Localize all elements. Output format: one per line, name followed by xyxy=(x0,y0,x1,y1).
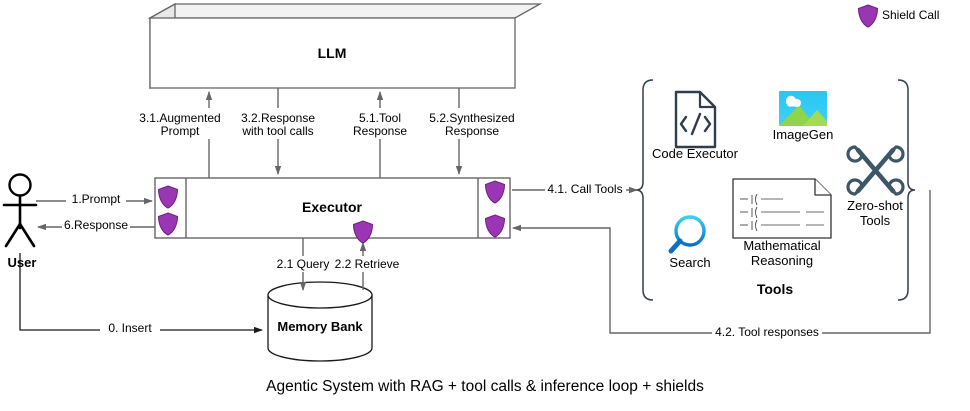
flow-label-41-call-tools: 4.1. Call Tools xyxy=(545,183,624,196)
flow-label-51-tool-response: 5.1.Tool Response xyxy=(351,112,409,139)
tool-label-zero-shot-tools: Zero-shot Tools xyxy=(847,199,903,228)
flow-label-42-tool-responses: 4.2. Tool responses xyxy=(713,326,821,339)
tools-group-label: Tools xyxy=(757,282,793,298)
flow-label-21-query: 2.1 Query xyxy=(275,258,332,271)
llm-label: LLM xyxy=(318,46,347,62)
user-actor-icon xyxy=(4,175,36,247)
flow-label-32-response-with-tool-calls: 3.2.Response with tool calls xyxy=(239,112,317,139)
formula-document-icon xyxy=(733,179,831,238)
flow-label-52-synthesized-response: 5.2.Synthesized Response xyxy=(427,112,516,139)
tool-label-code-executor: Code Executor xyxy=(652,147,738,162)
user-label: User xyxy=(8,256,37,271)
crossed-wrenches-icon xyxy=(848,147,903,194)
diagram-svg xyxy=(0,0,970,411)
flow-label-31-augmented-prompt: 3.1.Augmented Prompt xyxy=(137,112,222,139)
code-file-icon xyxy=(676,92,715,147)
flow-label-6-response: 6.Response xyxy=(62,219,130,232)
legend-shield-label: Shield Call xyxy=(882,9,939,22)
memory-bank-label: Memory Bank xyxy=(277,320,362,335)
image-icon xyxy=(779,91,831,126)
executor-label: Executor xyxy=(302,200,362,216)
diagram-caption: Agentic System with RAG + tool calls & i… xyxy=(266,378,704,395)
magnifier-icon xyxy=(671,217,704,251)
shield-icon xyxy=(354,221,373,243)
arrow-insert xyxy=(20,253,262,330)
flow-label-0-insert: 0. Insert xyxy=(106,322,153,335)
shield-icon-legend xyxy=(859,5,878,27)
flow-label-22-retrieve: 2.2 Retrieve xyxy=(333,258,402,271)
flow-label-1-prompt: 1.Prompt xyxy=(70,193,123,206)
tool-label-search: Search xyxy=(669,256,710,271)
tools-bracket-left xyxy=(636,80,653,300)
tool-label-math-reasoning: Mathematical Reasoning xyxy=(743,239,820,268)
tool-label-imagegen: ImageGen xyxy=(773,128,834,143)
diagram-canvas: LLM Executor Memory Bank User Tools 1.Pr… xyxy=(0,0,970,411)
